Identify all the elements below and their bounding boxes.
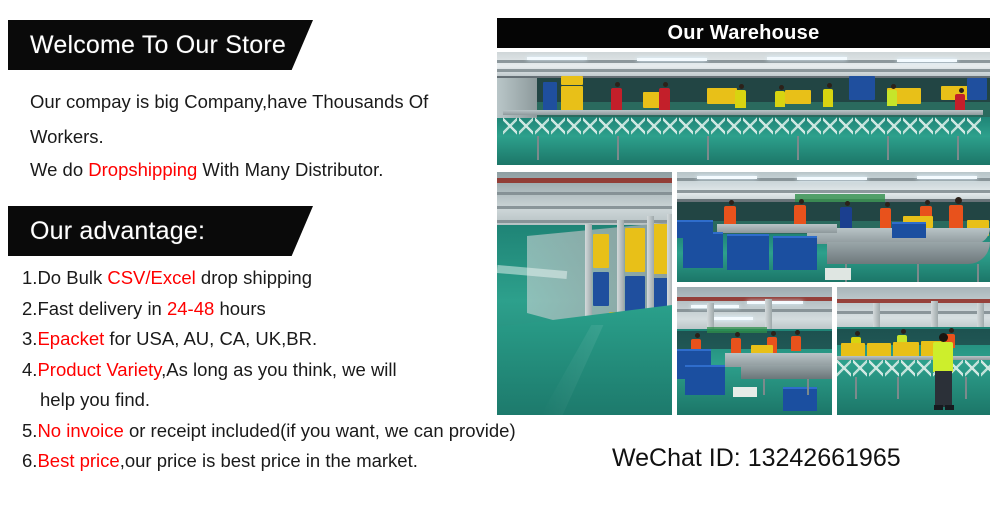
list-item-highlight: CSV/Excel [107,267,195,288]
list-item-post: or receipt included(if you want, we can … [124,420,516,441]
company-description: Our compay is big Company,have Thousands… [30,84,500,154]
warehouse-title-bar: Our Warehouse [497,18,990,48]
welcome-banner-title: Welcome To Our Store [8,31,286,60]
list-item: 5.No invoice or receipt included(if you … [22,416,622,447]
dropshipping-statement: We do Dropshipping With Many Distributor… [30,152,500,187]
warehouse-racking-aisle-photo [497,172,672,415]
company-description-line1: Our compay is big Company,have Thousands… [30,84,500,119]
list-item-post: drop shipping [196,267,312,288]
wechat-contact: WeChat ID: 13242661965 [612,444,901,473]
company-description-line2: Workers. [30,119,500,154]
dropshipping-pre: We do [30,159,88,180]
list-item-highlight: 24-48 [167,298,214,319]
promo-banner-page: Welcome To Our Store Our compay is big C… [0,0,1000,516]
list-item-number: 2. [22,298,37,319]
list-item-pre: Do Bulk [37,267,107,288]
warehouse-section: Our Warehouse [497,18,990,48]
list-item-highlight: No invoice [37,420,123,441]
warehouse-panorama-photo [497,52,990,165]
list-item-pre: Fast delivery in [37,298,167,319]
list-item-highlight: Best price [37,450,119,471]
list-item-number: 1. [22,267,37,288]
list-item-post: ,our price is best price in the market. [120,450,418,471]
list-item-post: ,As long as you think, we will [161,359,396,380]
warehouse-sorting-line-photo [677,172,990,282]
list-item-number: 6. [22,450,37,471]
dropshipping-post: With Many Distributor. [197,159,383,180]
warehouse-conveyor-belt-photo [677,287,832,415]
advantage-banner: Our advantage: [8,206,313,256]
advantage-banner-title: Our advantage: [8,217,205,246]
list-item-continuation: help you find. [22,385,487,416]
warehouse-title: Our Warehouse [667,22,819,45]
welcome-banner: Welcome To Our Store [8,20,313,70]
list-item-post: for USA, AU, CA, UK,BR. [104,328,317,349]
list-item: 6.Best price,our price is best price in … [22,446,622,477]
list-item-number: 4. [22,359,37,380]
list-item-highlight: Product Variety [37,359,161,380]
dropshipping-highlight: Dropshipping [88,159,197,180]
list-item: 4.Product Variety,As long as you think, … [22,355,487,416]
list-item-highlight: Epacket [37,328,104,349]
warehouse-worker-picking-photo [837,287,990,415]
store-info-column: Welcome To Our Store Our compay is big C… [0,0,500,516]
list-item-number: 5. [22,420,37,441]
list-item-post: hours [214,298,265,319]
list-item-number: 3. [22,328,37,349]
